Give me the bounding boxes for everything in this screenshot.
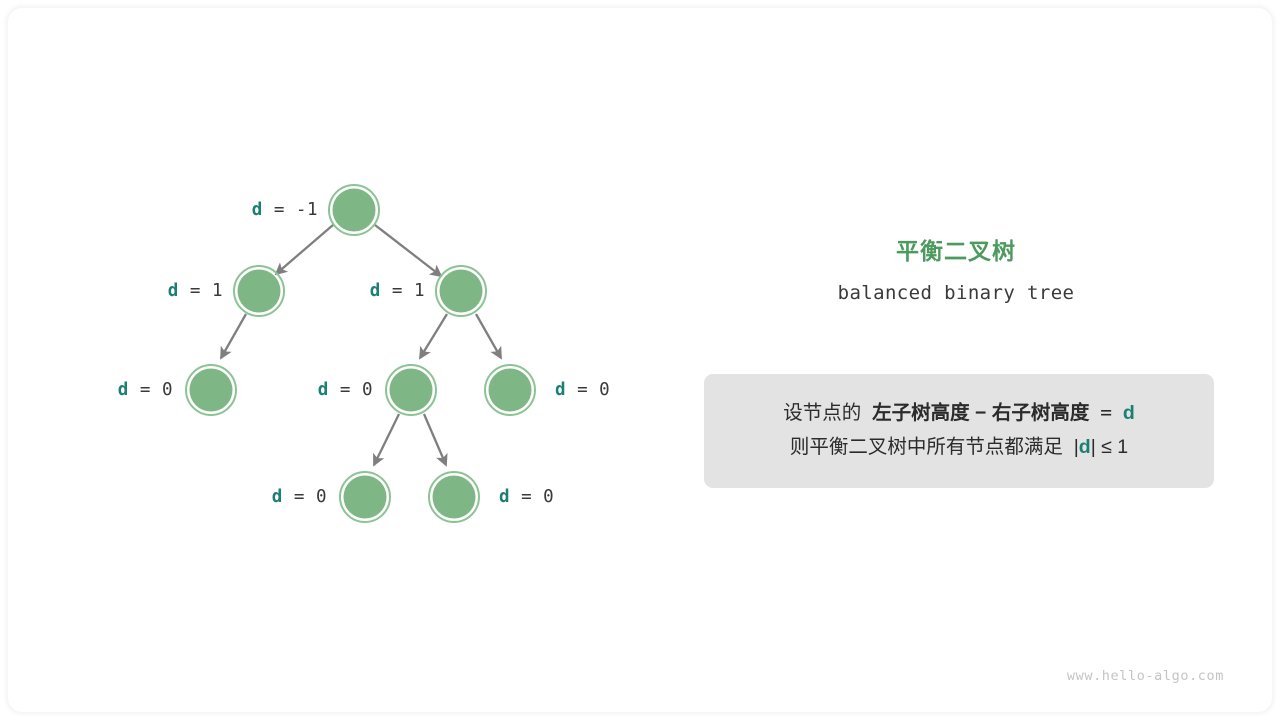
tree-node-right-left[interactable] bbox=[386, 365, 436, 415]
edge-left-leftleft bbox=[221, 314, 246, 358]
panel-title: 平衡二叉树 bbox=[696, 232, 1216, 266]
balance-value-right: = 1 bbox=[392, 281, 425, 301]
formula-box: 设节点的 左子树高度 − 右子树高度 = d 则平衡二叉树中所有节点都满足 |d… bbox=[704, 374, 1214, 488]
balance-var-root: d bbox=[252, 200, 263, 220]
edge-rightleft-rightchild bbox=[424, 414, 446, 465]
formula-right-height: 右子树高度 bbox=[992, 402, 1090, 424]
balance-label-root: d = -1 bbox=[158, 200, 318, 220]
balance-value-root: = -1 bbox=[274, 200, 318, 220]
balance-var-right-right: d bbox=[555, 380, 566, 400]
formula-left-height: 左子树高度 bbox=[872, 402, 970, 424]
panel-subtitle: balanced binary tree bbox=[696, 282, 1216, 304]
balance-label-left-left: d = 0 bbox=[13, 380, 173, 400]
balance-label-right: d = 1 bbox=[265, 281, 425, 301]
balance-var-right-left-right: d bbox=[499, 487, 510, 507]
watermark: www.hello-algo.com bbox=[1067, 668, 1224, 684]
formula-abs-close: | bbox=[1091, 436, 1096, 458]
balance-value-right-left: = 0 bbox=[340, 380, 373, 400]
tree-nodes bbox=[186, 185, 535, 522]
balance-label-right-left-right: d = 0 bbox=[499, 487, 659, 507]
formula-var-d-2: d bbox=[1079, 436, 1091, 458]
edge-root-right bbox=[375, 225, 441, 276]
edge-rightleft-leftchild bbox=[374, 414, 399, 465]
edge-right-rightright bbox=[476, 314, 501, 358]
formula-minus-sign: − bbox=[975, 402, 986, 424]
balance-label-right-left: d = 0 bbox=[213, 380, 373, 400]
balance-value-left: = 1 bbox=[190, 281, 223, 301]
balance-var-right-left-left: d bbox=[272, 487, 283, 507]
balance-value-left-left: = 0 bbox=[140, 380, 173, 400]
tree-node-right-right[interactable] bbox=[485, 365, 535, 415]
balance-var-left-left: d bbox=[118, 380, 129, 400]
formula-line-1: 设节点的 左子树高度 − 右子树高度 = d bbox=[704, 396, 1214, 430]
formula-relation: ≤ 1 bbox=[1101, 436, 1128, 458]
tree-node-right-left-left[interactable] bbox=[340, 472, 390, 522]
balance-value-right-left-right: = 0 bbox=[521, 487, 554, 507]
tree-node-right-left-right[interactable] bbox=[429, 472, 479, 522]
balance-var-left: d bbox=[168, 281, 179, 301]
edge-root-left bbox=[276, 225, 333, 274]
info-panel: 平衡二叉树 balanced binary tree 设节点的 左子树高度 − … bbox=[696, 8, 1272, 712]
formula-var-d-1: d bbox=[1123, 402, 1135, 424]
balance-label-right-left-left: d = 0 bbox=[167, 487, 327, 507]
edge-right-rightleft bbox=[420, 314, 447, 358]
tree-node-right[interactable] bbox=[436, 266, 486, 316]
tree-node-root[interactable] bbox=[329, 185, 379, 235]
balance-value-right-right: = 0 bbox=[577, 380, 610, 400]
formula-equals-sign: = bbox=[1100, 401, 1112, 424]
formula-prefix-2: 则平衡二叉树中所有节点都满足 bbox=[790, 436, 1063, 458]
tree-edges bbox=[221, 225, 501, 465]
balance-label-left: d = 1 bbox=[63, 281, 223, 301]
formula-prefix-1: 设节点的 bbox=[783, 402, 861, 424]
balance-var-right: d bbox=[370, 281, 381, 301]
figure-card: d = -1 d = 1 d = 1 d = 0 d = 0 d = 0 d =… bbox=[8, 8, 1272, 712]
formula-line-2: 则平衡二叉树中所有节点都满足 |d| ≤ 1 bbox=[704, 430, 1214, 464]
tree-graphics bbox=[8, 8, 668, 712]
balance-var-right-left: d bbox=[318, 380, 329, 400]
binary-tree-diagram: d = -1 d = 1 d = 1 d = 0 d = 0 d = 0 d =… bbox=[8, 8, 668, 712]
balance-value-right-left-left: = 0 bbox=[294, 487, 327, 507]
balance-label-right-right: d = 0 bbox=[555, 380, 715, 400]
